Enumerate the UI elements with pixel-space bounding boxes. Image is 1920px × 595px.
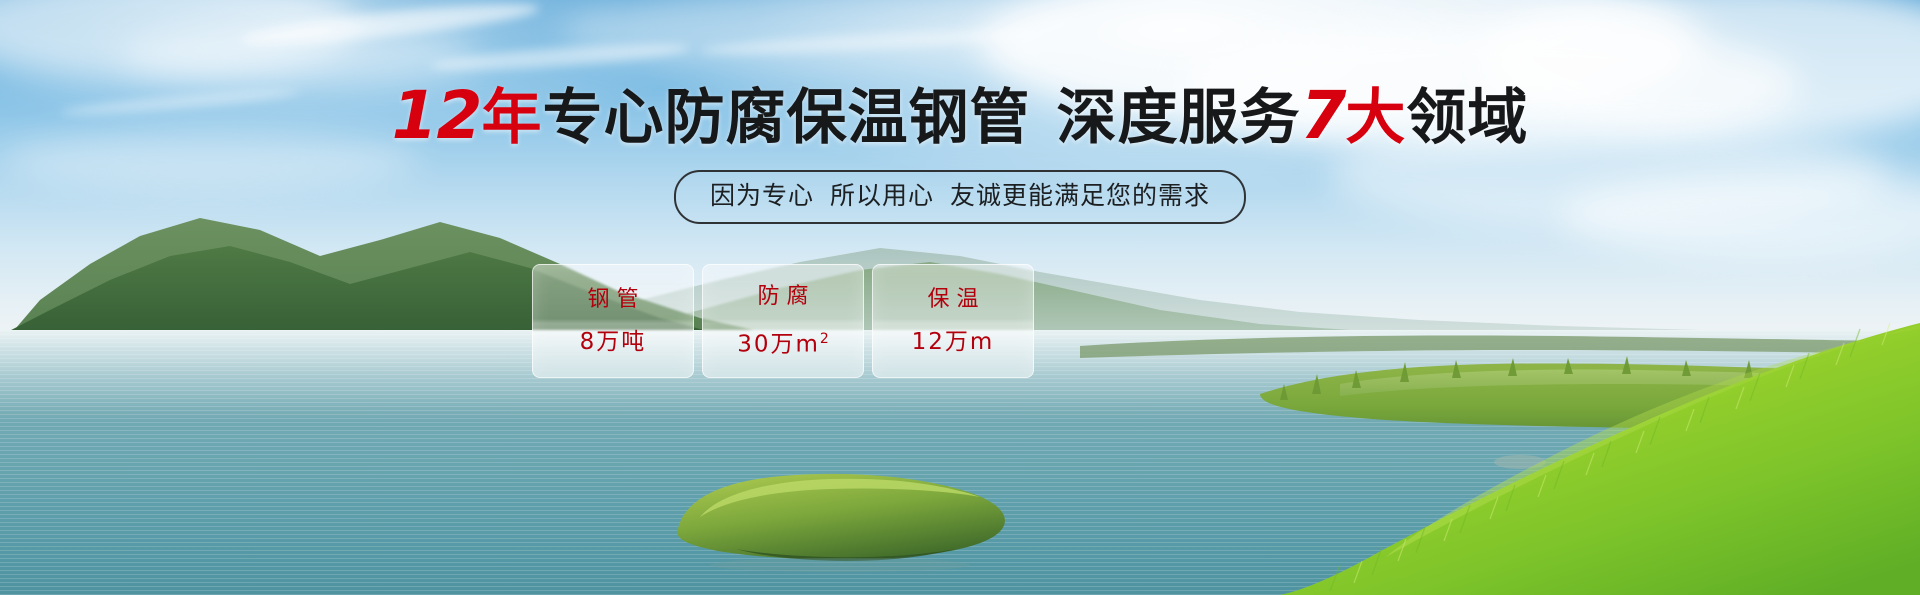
headline-main-text: 专心防腐保温钢管 <box>542 83 1030 153</box>
stat-card: 保温 12万m <box>872 264 1034 378</box>
stat-card-value: 8万吨 <box>580 329 647 355</box>
stat-card-value-text: 12万m <box>912 329 995 355</box>
headline-fields-unit: 大 <box>1345 83 1406 153</box>
stat-card-group: 钢管 8万吨 防腐 30万m2 保温 12万m <box>532 264 1034 378</box>
subtitle-pill: 因为专心所以用心友诚更能满足您的需求 <box>674 170 1246 224</box>
stat-card-value-superscript: 2 <box>820 331 829 347</box>
stat-card: 防腐 30万m2 <box>702 264 864 378</box>
stat-card-value-text: 8万吨 <box>580 329 647 355</box>
subtitle-part-2: 所以用心 <box>830 181 934 210</box>
stat-card: 钢管 8万吨 <box>532 264 694 378</box>
subtitle-part-1: 因为专心 <box>710 181 814 210</box>
stat-card-title: 保温 <box>920 287 985 313</box>
stat-card-title: 钢管 <box>580 287 645 313</box>
stat-card-title: 防腐 <box>750 284 815 310</box>
headline-service-text: 深度服务 <box>1056 83 1300 153</box>
headline-fields-number: 7 <box>1300 77 1345 154</box>
headline: 12年专心防腐保温钢管深度服务7大领域 <box>0 86 1920 148</box>
headline-years-unit: 年 <box>481 83 542 153</box>
headline-fields-tail: 领域 <box>1406 83 1528 153</box>
stat-card-value-text: 30万m <box>737 332 820 358</box>
stat-card-value: 30万m2 <box>737 326 829 358</box>
subtitle-part-3: 友诚更能满足您的需求 <box>950 181 1210 210</box>
headline-years-number: 12 <box>392 77 482 154</box>
hero-banner: 12年专心防腐保温钢管深度服务7大领域 因为专心所以用心友诚更能满足您的需求 钢… <box>0 0 1920 595</box>
stat-card-value: 12万m <box>912 329 995 355</box>
